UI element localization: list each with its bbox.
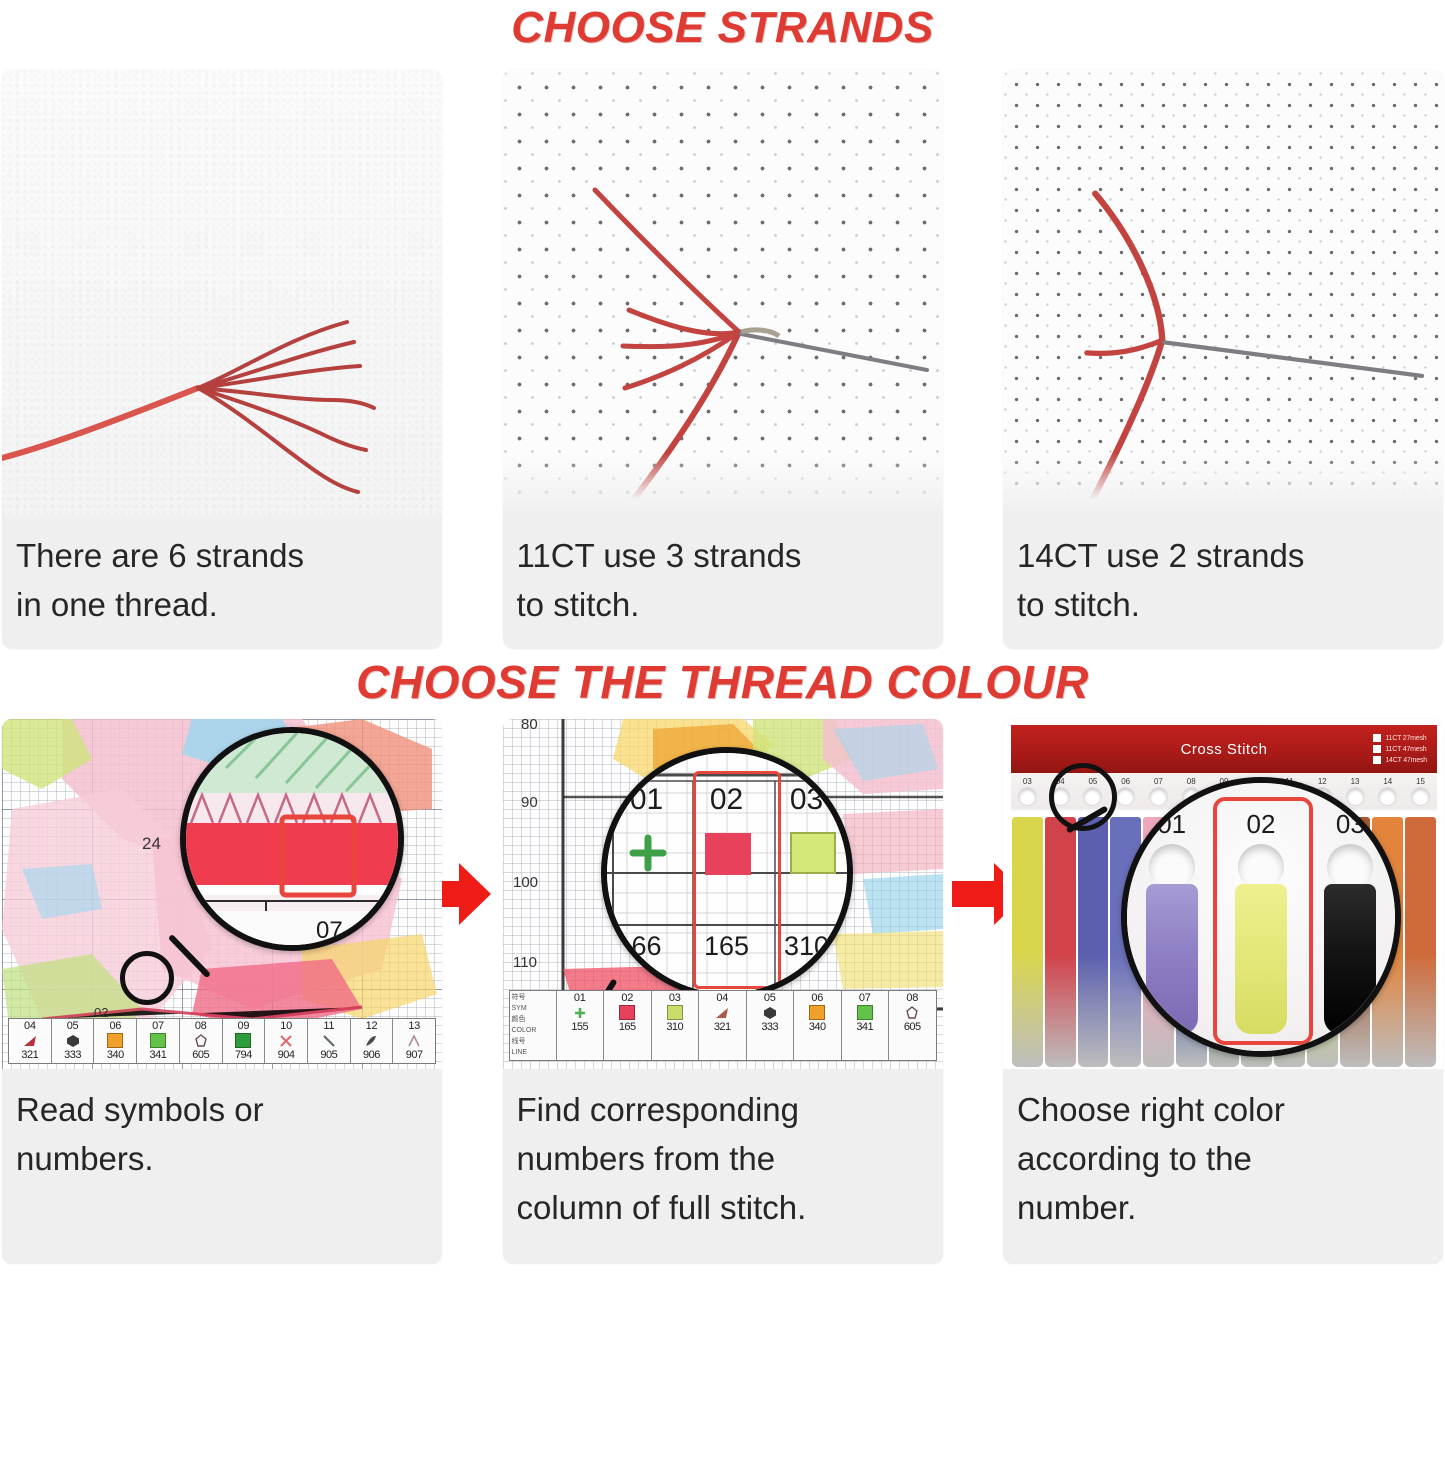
caption-line: according to the [1017, 1134, 1429, 1183]
card-find-numbers: 80 90 100 110 [503, 719, 943, 1264]
thread-hole [1018, 787, 1037, 806]
svg-text:100: 100 [513, 874, 538, 891]
orange-square-icon [809, 1005, 825, 1020]
legend-column: 11 905 [308, 1019, 351, 1063]
magnified-legend-grid: 01 02 03 66 165 310 [607, 753, 847, 993]
banner-legend-label: 14CT 47mesh [1385, 757, 1427, 764]
legend-number: 01 [574, 992, 586, 1004]
legend-code: 906 [363, 1049, 380, 1061]
caption-line: in one thread. [16, 580, 428, 629]
caption-line: numbers. [16, 1134, 428, 1183]
magnified-thread-card: 01 02 03 [1127, 783, 1395, 1051]
legend-code: 321 [714, 1021, 731, 1033]
legend-code: 794 [235, 1049, 252, 1061]
caption-six-strands: There are 6 strands in one thread. [2, 515, 442, 649]
triangle-icon [714, 1005, 730, 1020]
card-14ct: 14CT use 2 strands to stitch. [1003, 70, 1443, 649]
magnified-legend-number: 01 [607, 783, 687, 817]
checkbox-icon [1373, 756, 1381, 764]
legend-number: 09 [238, 1020, 250, 1032]
legend-code: 340 [107, 1049, 124, 1061]
photo-11ct-aida [503, 70, 943, 515]
legend-number: 06 [811, 992, 823, 1004]
legend-code: 333 [64, 1049, 81, 1061]
svg-text:8: 8 [216, 917, 229, 944]
svg-text:80: 80 [521, 719, 538, 733]
dark-green-square-icon [235, 1033, 251, 1048]
banner-legend-label: 11CT 47mesh [1385, 746, 1426, 753]
legend-code: 905 [320, 1049, 337, 1061]
colour-card-row: 24 02 [0, 719, 1445, 1264]
legend-code: 333 [761, 1021, 778, 1033]
card-11ct: 11CT use 3 strands to stitch. [503, 70, 943, 649]
triangle-icon [22, 1033, 38, 1048]
green-square-icon [150, 1033, 166, 1048]
legend-number: 04 [716, 992, 728, 1004]
legend-column: 09 794 [223, 1019, 266, 1063]
legend-number: 08 [195, 1020, 207, 1032]
caption-line: There are 6 strands [16, 531, 428, 580]
photo-bottom-fade [1003, 453, 1443, 515]
caption-find-numbers: Find corresponding numbers from the colu… [503, 1069, 943, 1264]
caption-line: to stitch. [1017, 580, 1429, 629]
strands-card-row: There are 6 strands in one thread. [0, 70, 1445, 649]
caption-choose-color: Choose right color according to the numb… [1003, 1069, 1443, 1264]
checkbox-icon [1373, 745, 1381, 753]
highlight-box-column-02 [693, 771, 781, 989]
legend-number: 03 [669, 992, 681, 1004]
legend-column: 04 321 [699, 991, 747, 1060]
svg-text:110: 110 [513, 954, 537, 971]
photo-six-strands [2, 70, 442, 515]
hexagon-icon [65, 1033, 81, 1048]
magnifier-lens-legend: 01 02 03 66 165 310 [601, 747, 853, 999]
photo-bottom-fade [503, 453, 943, 515]
magnified-thread-column: 03 [1306, 809, 1395, 1034]
checkbox-icon [1373, 734, 1381, 742]
needle-and-two-strands-illustration [1003, 70, 1443, 515]
magnified-stitches: 8 07 [186, 733, 398, 945]
section-title-choose-thread-colour: CHOOSE THE THREAD COLOUR [0, 649, 1445, 709]
legend-number: 07 [152, 1020, 164, 1032]
legend-column: 06 340 [794, 991, 842, 1060]
caption-line: to stitch. [517, 580, 929, 629]
chart-row-number: 24 [142, 834, 161, 853]
legend-number: 12 [366, 1020, 378, 1032]
magnified-thread-number: 03 [1336, 809, 1365, 840]
magnifier-lens-pattern: 8 07 [180, 727, 404, 951]
section-title-choose-strands: CHOOSE STRANDS [0, 0, 1445, 54]
banner-legend-label: 11CT 27mesh [1385, 735, 1426, 742]
thread-hole [1411, 787, 1430, 806]
legend-column: 04 321 [9, 1019, 52, 1063]
caption-11ct: 11CT use 3 strands to stitch. [503, 515, 943, 649]
thread-card-title: Cross Stitch [1181, 741, 1268, 758]
legend-code: 165 [619, 1021, 636, 1033]
caret-icon [406, 1033, 422, 1048]
caption-line: 14CT use 2 strands [1017, 531, 1429, 580]
orange-square-icon [107, 1033, 123, 1048]
caption-line: numbers from the [517, 1134, 929, 1183]
thread-hole-number: 15 [1416, 777, 1425, 786]
legend-number: 11 [323, 1020, 334, 1032]
green-square-icon [857, 1005, 873, 1020]
legend-column: 10 904 [265, 1019, 308, 1063]
symbol-legend-table: 04 321 05 333 06 [8, 1018, 436, 1064]
hexagon-icon [762, 1005, 778, 1020]
legend-column: 05 333 [747, 991, 795, 1060]
caption-read-symbols: Read symbols or numbers. [2, 1069, 442, 1264]
magnifier-target-ring [1049, 763, 1117, 831]
leaf-icon [363, 1033, 379, 1048]
magnified-legend-code: 66 [607, 931, 687, 962]
lime-square-icon [667, 1005, 683, 1020]
caption-line: Find corresponding [517, 1085, 929, 1134]
magnifier-lens-threads: 01 02 03 [1121, 777, 1401, 1057]
thread-hole-number: 03 [1023, 777, 1032, 786]
legend-number: 05 [764, 992, 776, 1004]
legend-number: 08 [906, 992, 918, 1004]
caption-line: column of full stitch. [517, 1183, 929, 1232]
six-strands-illustration [2, 70, 442, 515]
thread-skein [1146, 884, 1198, 1034]
legend-column: 06 340 [94, 1019, 137, 1063]
magnifier-target-ring [120, 951, 174, 1005]
legend-number: 05 [67, 1020, 79, 1032]
legend-column: 01 155 [557, 991, 605, 1060]
legend-code: 310 [666, 1021, 683, 1033]
plus-icon [572, 1005, 588, 1020]
thread-skein [1405, 817, 1436, 1067]
legend-number: 02 [621, 992, 633, 1004]
card-read-symbols: 24 02 [2, 719, 442, 1264]
thread-hole-column: 15 [1404, 777, 1437, 819]
full-stitch-legend-table: 符号SYM 颜色COLOR 线号LINE 01 155 02 165 [509, 990, 937, 1061]
card-six-strands: There are 6 strands in one thread. [2, 70, 442, 649]
thread-skein [1012, 817, 1043, 1067]
legend-column: 12 906 [351, 1019, 394, 1063]
photo-14ct-aida [1003, 70, 1443, 515]
svg-text:07: 07 [316, 917, 343, 944]
thread-skein [1324, 884, 1376, 1034]
caption-line: Read symbols or [16, 1085, 428, 1134]
legend-number: 04 [24, 1020, 36, 1032]
highlight-box-column-02 [1213, 797, 1313, 1045]
legend-code: 904 [278, 1049, 295, 1061]
photo-thread-organizer: Cross Stitch 11CT 27mesh 11CT 47mesh [1003, 719, 1443, 1069]
legend-code: 605 [192, 1049, 209, 1061]
circle-outline-icon [193, 1033, 209, 1048]
caption-line: number. [1017, 1183, 1429, 1232]
legend-code: 341 [150, 1049, 167, 1061]
thread-hole-column: 03 [1011, 777, 1044, 819]
circle-outline-icon [904, 1005, 920, 1020]
thread-card-banner-legend: 11CT 27mesh 11CT 47mesh 14CT 47mesh [1373, 734, 1427, 764]
legend-column: 05 333 [52, 1019, 95, 1063]
legend-column: 08 605 [180, 1019, 223, 1063]
cross-x-icon [278, 1033, 294, 1048]
card-choose-color: Cross Stitch 11CT 27mesh 11CT 47mesh [1003, 719, 1443, 1264]
legend-number: 06 [109, 1020, 121, 1032]
legend-column: 07 341 [137, 1019, 180, 1063]
legend-code: 341 [856, 1021, 873, 1033]
caption-14ct: 14CT use 2 strands to stitch. [1003, 515, 1443, 649]
legend-number: 10 [280, 1020, 292, 1032]
banner-legend-item: 11CT 27mesh [1373, 734, 1427, 742]
legend-column: 02 165 [604, 991, 652, 1060]
legend-column: 08 605 [889, 991, 936, 1060]
thread-skein [1078, 817, 1109, 1067]
pink-square-icon [619, 1005, 635, 1020]
legend-number: 13 [408, 1020, 420, 1032]
caption-line: Choose right color [1017, 1085, 1429, 1134]
legend-code: 605 [904, 1021, 921, 1033]
diagonal-slash-icon [321, 1033, 337, 1048]
magnified-thread-number: 01 [1157, 809, 1186, 840]
legend-column: 13 907 [393, 1019, 435, 1063]
caption-line: 11CT use 3 strands [517, 531, 929, 580]
banner-legend-item: 14CT 47mesh [1373, 756, 1427, 764]
svg-text:90: 90 [521, 794, 538, 811]
photo-pattern-chart: 24 02 [2, 719, 442, 1069]
needle-and-three-strands-illustration [503, 70, 943, 515]
banner-legend-item: 11CT 47mesh [1373, 745, 1427, 753]
legend-code: 155 [571, 1021, 588, 1033]
legend-column: 07 341 [842, 991, 890, 1060]
thread-skein [1045, 817, 1076, 1067]
photo-chart-legend: 80 90 100 110 [503, 719, 943, 1069]
legend-number: 07 [859, 992, 871, 1004]
legend-row-labels: 符号SYM 颜色COLOR 线号LINE [510, 991, 557, 1060]
magnified-thread-column: 01 [1127, 809, 1216, 1034]
legend-code: 340 [809, 1021, 826, 1033]
legend-code: 907 [406, 1049, 423, 1061]
legend-column: 03 310 [652, 991, 700, 1060]
legend-code: 321 [21, 1049, 38, 1061]
